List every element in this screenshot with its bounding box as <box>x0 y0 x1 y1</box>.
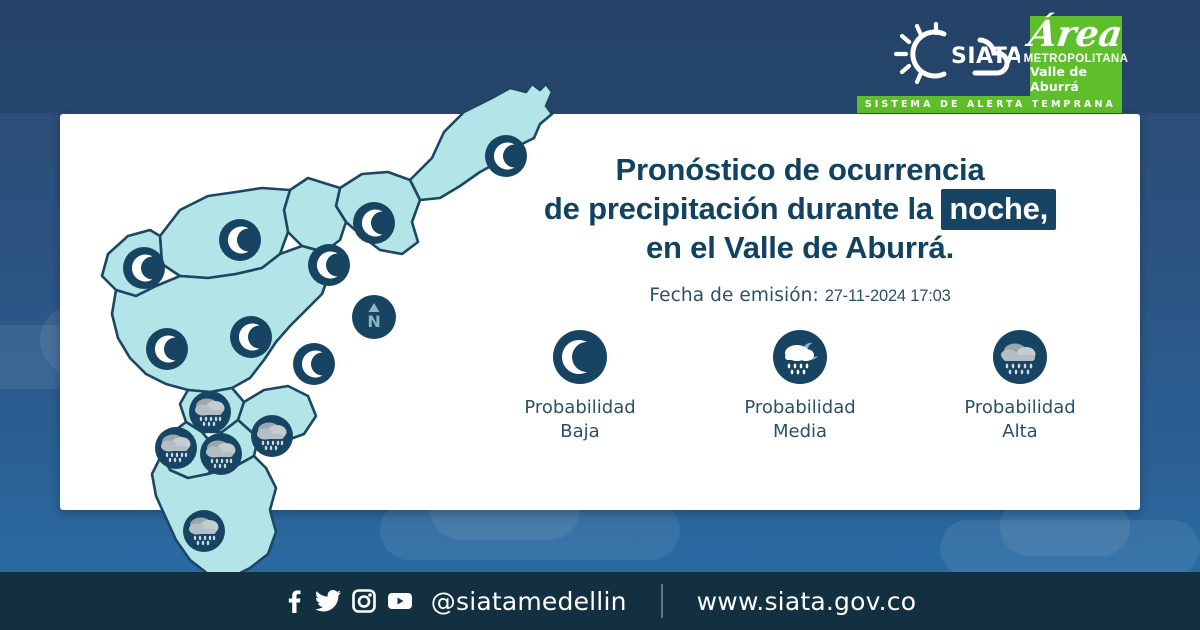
legend-label-line1: Probabilidad <box>708 396 893 420</box>
twitter-icon[interactable] <box>315 589 341 613</box>
instagram-icon[interactable] <box>352 589 376 613</box>
map-marker-moon-icon <box>123 247 165 289</box>
emission-value: 27-11-2024 17:03 <box>825 287 951 305</box>
moon-icon <box>553 330 607 384</box>
valle-de-aburra-map: N <box>40 40 560 585</box>
legend-label-line1: Probabilidad <box>928 396 1113 420</box>
map-marker-rain-icon <box>200 433 242 475</box>
legend-label-line2: Baja <box>488 420 673 444</box>
map-marker-moon-icon <box>353 202 395 244</box>
footer-bar: @siatamedellin www.siata.gov.co <box>0 572 1200 630</box>
facebook-icon[interactable] <box>284 589 304 613</box>
siata-logo: SIATA <box>892 16 1020 96</box>
probability-legend: Probabilidad Baja <box>470 330 1130 445</box>
map-marker-moon-icon <box>230 316 272 358</box>
cloud-heavy-rain-icon <box>993 330 1047 384</box>
map-marker-moon-icon <box>146 328 188 370</box>
legend-label-line2: Alta <box>928 420 1113 444</box>
social-links <box>284 589 413 613</box>
area-metropolitana-logo: Área METROPOLITANA Valle de Aburrá <box>1030 16 1122 98</box>
headline-block: Pronóstico de ocurrencia de precipitació… <box>470 150 1130 306</box>
map-marker-moon-icon <box>308 244 350 286</box>
legend-label-line1: Probabilidad <box>488 396 673 420</box>
map-marker-rain-icon <box>189 391 231 433</box>
area-logo-script: Área <box>1027 17 1125 51</box>
emission-label: Fecha de emisión: <box>649 285 818 306</box>
legend-label-alta: Probabilidad Alta <box>928 396 1113 445</box>
map-marker-rain-icon <box>155 427 197 469</box>
youtube-icon[interactable] <box>387 591 413 611</box>
website-url[interactable]: www.siata.gov.co <box>697 587 917 616</box>
headline-highlight: noche, <box>941 189 1056 230</box>
headline-line-3: en el Valle de Aburrá. <box>470 228 1130 267</box>
svg-text:SIATA: SIATA <box>951 44 1020 69</box>
legend-item-alta: Probabilidad Alta <box>928 330 1113 445</box>
legend-label-baja: Probabilidad Baja <box>488 396 673 445</box>
map-marker-rain-icon <box>251 415 293 457</box>
legend-label-media: Probabilidad Media <box>708 396 893 445</box>
headline-line-2: de precipitación durante la noche, <box>470 189 1130 228</box>
area-logo-line2: Valle de Aburrá <box>1030 65 1122 94</box>
legend-item-baja: Probabilidad Baja <box>488 330 673 445</box>
infographic-poster: SIATA Área METROPOLITANA Valle de Aburrá… <box>0 0 1200 630</box>
social-handle[interactable]: @siatamedellin <box>431 587 627 616</box>
map-marker-moon-icon <box>219 219 261 261</box>
emission-date: Fecha de emisión: 27-11-2024 17:03 <box>470 285 1130 306</box>
legend-item-media: Probabilidad Media <box>708 330 893 445</box>
cloud-moon-rain-icon <box>773 330 827 384</box>
logo-group: SIATA Área METROPOLITANA Valle de Aburrá <box>892 16 1122 98</box>
map-marker-rain-icon <box>183 510 225 552</box>
footer-divider <box>661 584 663 618</box>
siata-tagline: SISTEMA DE ALERTA TEMPRANA <box>857 96 1122 113</box>
headline-line-1: Pronóstico de ocurrencia <box>470 150 1130 189</box>
headline-line-2-text: de precipitación durante la <box>544 191 942 226</box>
compass-rose: N <box>352 295 396 339</box>
compass-label: N <box>367 312 380 331</box>
page-title: Pronóstico de ocurrencia de precipitació… <box>470 150 1130 267</box>
map-marker-moon-icon <box>293 343 335 385</box>
legend-label-line2: Media <box>708 420 893 444</box>
